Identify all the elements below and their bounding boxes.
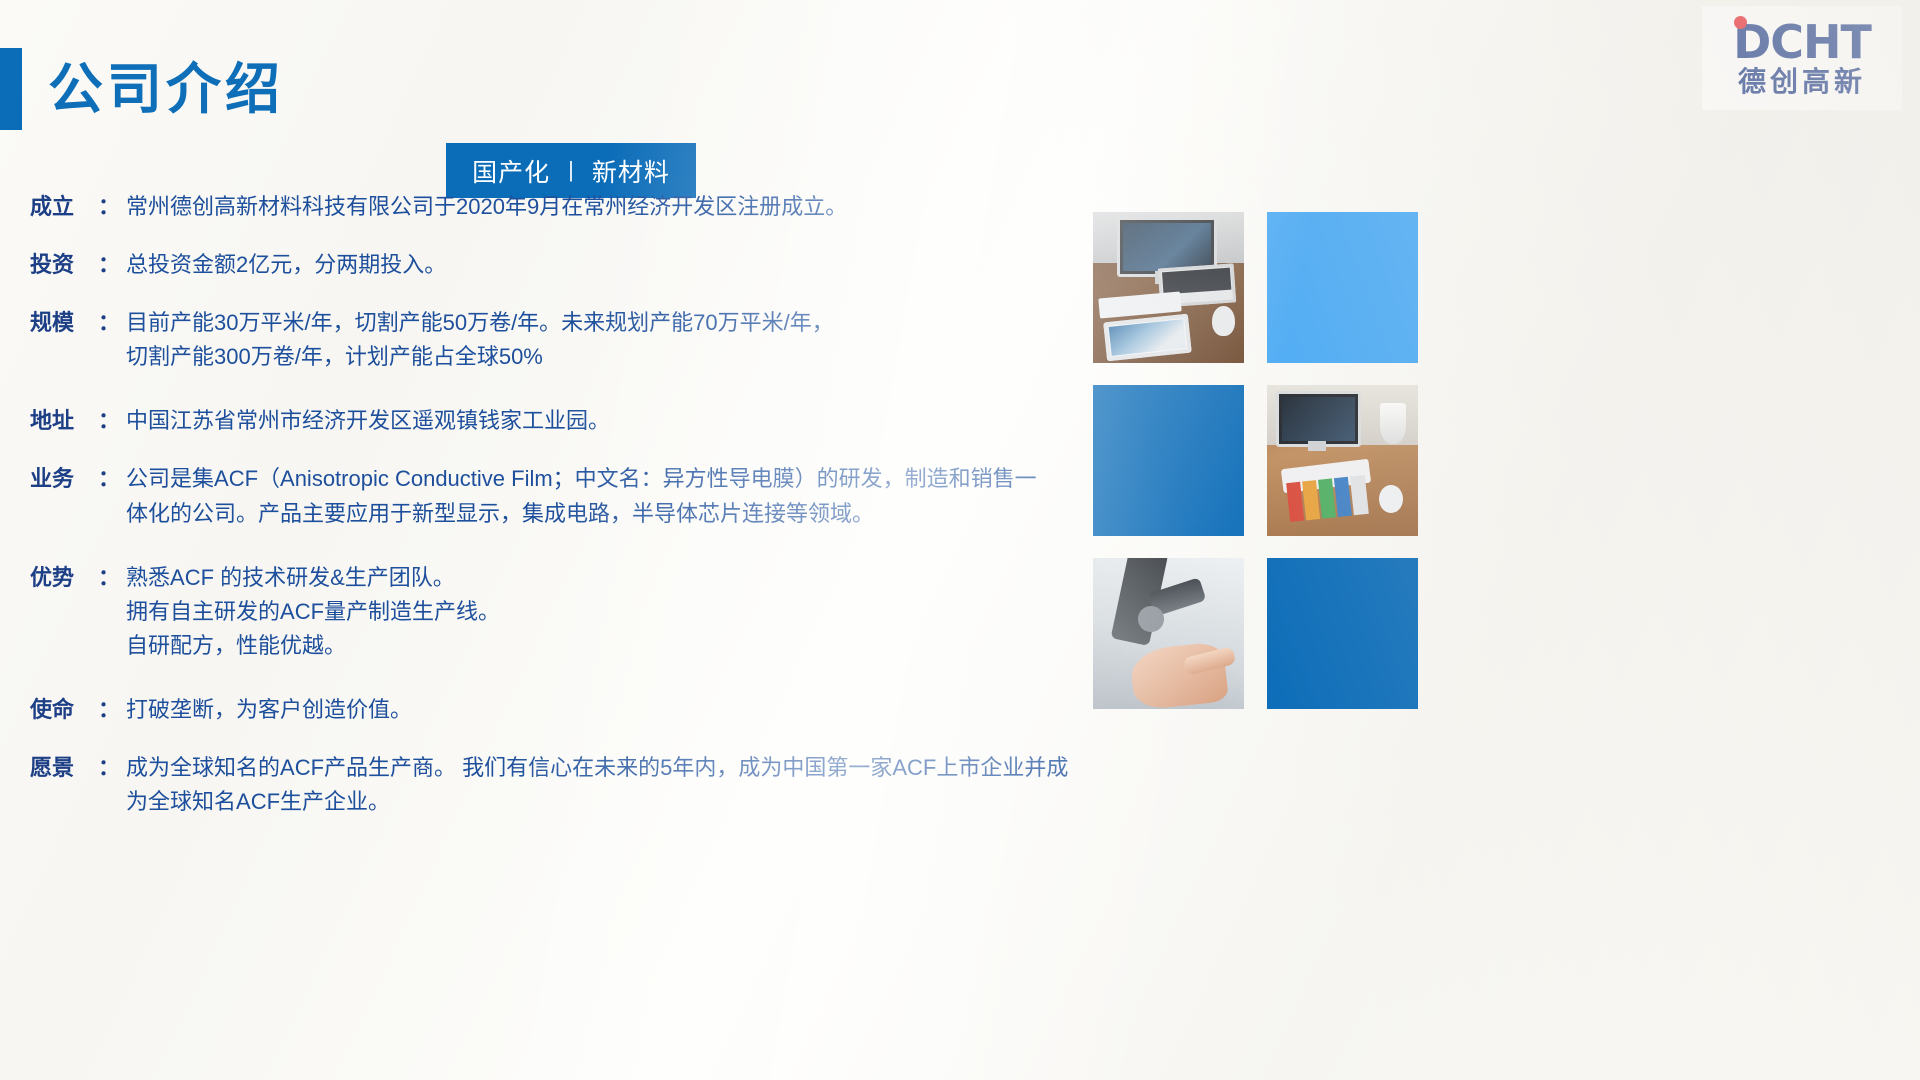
info-row-line: 自研配方，性能优越。 [126,629,1090,663]
info-row-line: 熟悉ACF 的技术研发&生产团队。 [126,561,1090,595]
info-row-value: 成为全球知名的ACF产品生产商。 我们有信心在未来的5年内，成为中国第一家ACF… [126,751,1090,819]
company-logo: DCHT 德创高新 [1702,6,1902,110]
logo-mark: DCHT [1733,19,1871,65]
info-row-label: 投资 [30,248,98,282]
info-row-value: 目前产能30万平米/年，切割产能50万卷/年。未来规划产能70万平米/年，切割产… [126,306,1090,374]
info-row-line: 体化的公司。产品主要应用于新型显示，集成电路，半导体芯片连接等领域。 [126,497,1090,531]
info-row-colon: ： [98,462,126,496]
info-row-label: 业务 [30,462,98,496]
info-row-value: 总投资金额2亿元，分两期投入。 [126,248,1090,282]
info-row-愿景: 愿景：成为全球知名的ACF产品生产商。 我们有信心在未来的5年内，成为中国第一家… [30,751,1090,819]
info-row-line: 目前产能30万平米/年，切割产能50万卷/年。未来规划产能70万平米/年， [126,306,1090,340]
info-row-line: 切割产能300万卷/年，计划产能占全球50% [126,340,1090,374]
info-row-colon: ： [98,306,126,340]
tagline-separator: | [550,157,592,183]
title-accent-bar [0,48,22,130]
info-row-colon: ： [98,248,126,282]
info-row-line: 常州德创高新材料科技有限公司于2020年9月在常州经济开发区注册成立。 [126,190,1090,224]
info-row-colon: ： [98,561,126,595]
info-row-line: 打破垄断，为客户创造价值。 [126,693,1090,727]
info-row-规模: 规模：目前产能30万平米/年，切割产能50万卷/年。未来规划产能70万平米/年，… [30,306,1090,374]
info-row-业务: 业务：公司是集ACF（Anisotropic Conductive Film；中… [30,462,1090,530]
info-row-label: 愿景 [30,751,98,785]
info-row-line: 成为全球知名的ACF产品生产商。 我们有信心在未来的5年内，成为中国第一家ACF… [126,751,1090,785]
tile-row [1093,385,1418,536]
info-row-value: 公司是集ACF（Anisotropic Conductive Film；中文名：… [126,462,1090,530]
info-row-优势: 优势：熟悉ACF 的技术研发&生产团队。拥有自主研发的ACF量产制造生产线。自研… [30,561,1090,663]
info-row-label: 成立 [30,190,98,224]
page-title-text: 公司介绍 [48,62,284,117]
info-row-value: 中国江苏省常州市经济开发区遥观镇钱家工业园。 [126,404,1090,438]
info-row-地址: 地址：中国江苏省常州市经济开发区遥观镇钱家工业园。 [30,404,1090,438]
info-row-colon: ： [98,190,126,224]
image-tile-grid [1093,212,1418,731]
info-row-line: 拥有自主研发的ACF量产制造生产线。 [126,595,1090,629]
logo-letters: DCHT [1733,15,1871,69]
slide-canvas: 公司介绍 DCHT 德创高新 国产化 | 新材料 成立：常州德创高新材料科技有限… [0,0,1920,1080]
info-row-line: 公司是集ACF（Anisotropic Conductive Film；中文名：… [126,462,1090,496]
tile-row [1093,212,1418,363]
info-row-成立: 成立：常州德创高新材料科技有限公司于2020年9月在常州经济开发区注册成立。 [30,190,1090,224]
desk-workspace-photo [1093,212,1244,363]
info-row-value: 打破垄断，为客户创造价值。 [126,693,1090,727]
info-row-label: 规模 [30,306,98,340]
info-row-colon: ： [98,751,126,785]
page-title: 公司介绍 [0,48,284,130]
blue-block [1267,558,1418,709]
light-blue-block [1267,212,1418,363]
logo-chinese-name: 德创高新 [1738,67,1866,96]
tagline-left-text: 国产化 [472,153,550,189]
info-row-value: 熟悉ACF 的技术研发&生产团队。拥有自主研发的ACF量产制造生产线。自研配方，… [126,561,1090,663]
info-row-colon: ： [98,404,126,438]
office-desk-photo [1267,385,1418,536]
info-row-line: 为全球知名ACF生产企业。 [126,785,1090,819]
info-row-line: 中国江苏省常州市经济开发区遥观镇钱家工业园。 [126,404,1090,438]
info-row-label: 使命 [30,693,98,727]
company-info-list: 成立：常州德创高新材料科技有限公司于2020年9月在常州经济开发区注册成立。投资… [30,190,1090,849]
info-row-colon: ： [98,693,126,727]
info-row-value: 常州德创高新材料科技有限公司于2020年9月在常州经济开发区注册成立。 [126,190,1090,224]
tagline-right-text: 新材料 [592,153,670,189]
blue-block [1093,385,1244,536]
info-row-label: 地址 [30,404,98,438]
robot-arm-photo [1093,558,1244,709]
tile-row [1093,558,1418,709]
info-row-line: 总投资金额2亿元，分两期投入。 [126,248,1090,282]
info-row-label: 优势 [30,561,98,595]
info-row-投资: 投资：总投资金额2亿元，分两期投入。 [30,248,1090,282]
info-row-使命: 使命：打破垄断，为客户创造价值。 [30,693,1090,727]
